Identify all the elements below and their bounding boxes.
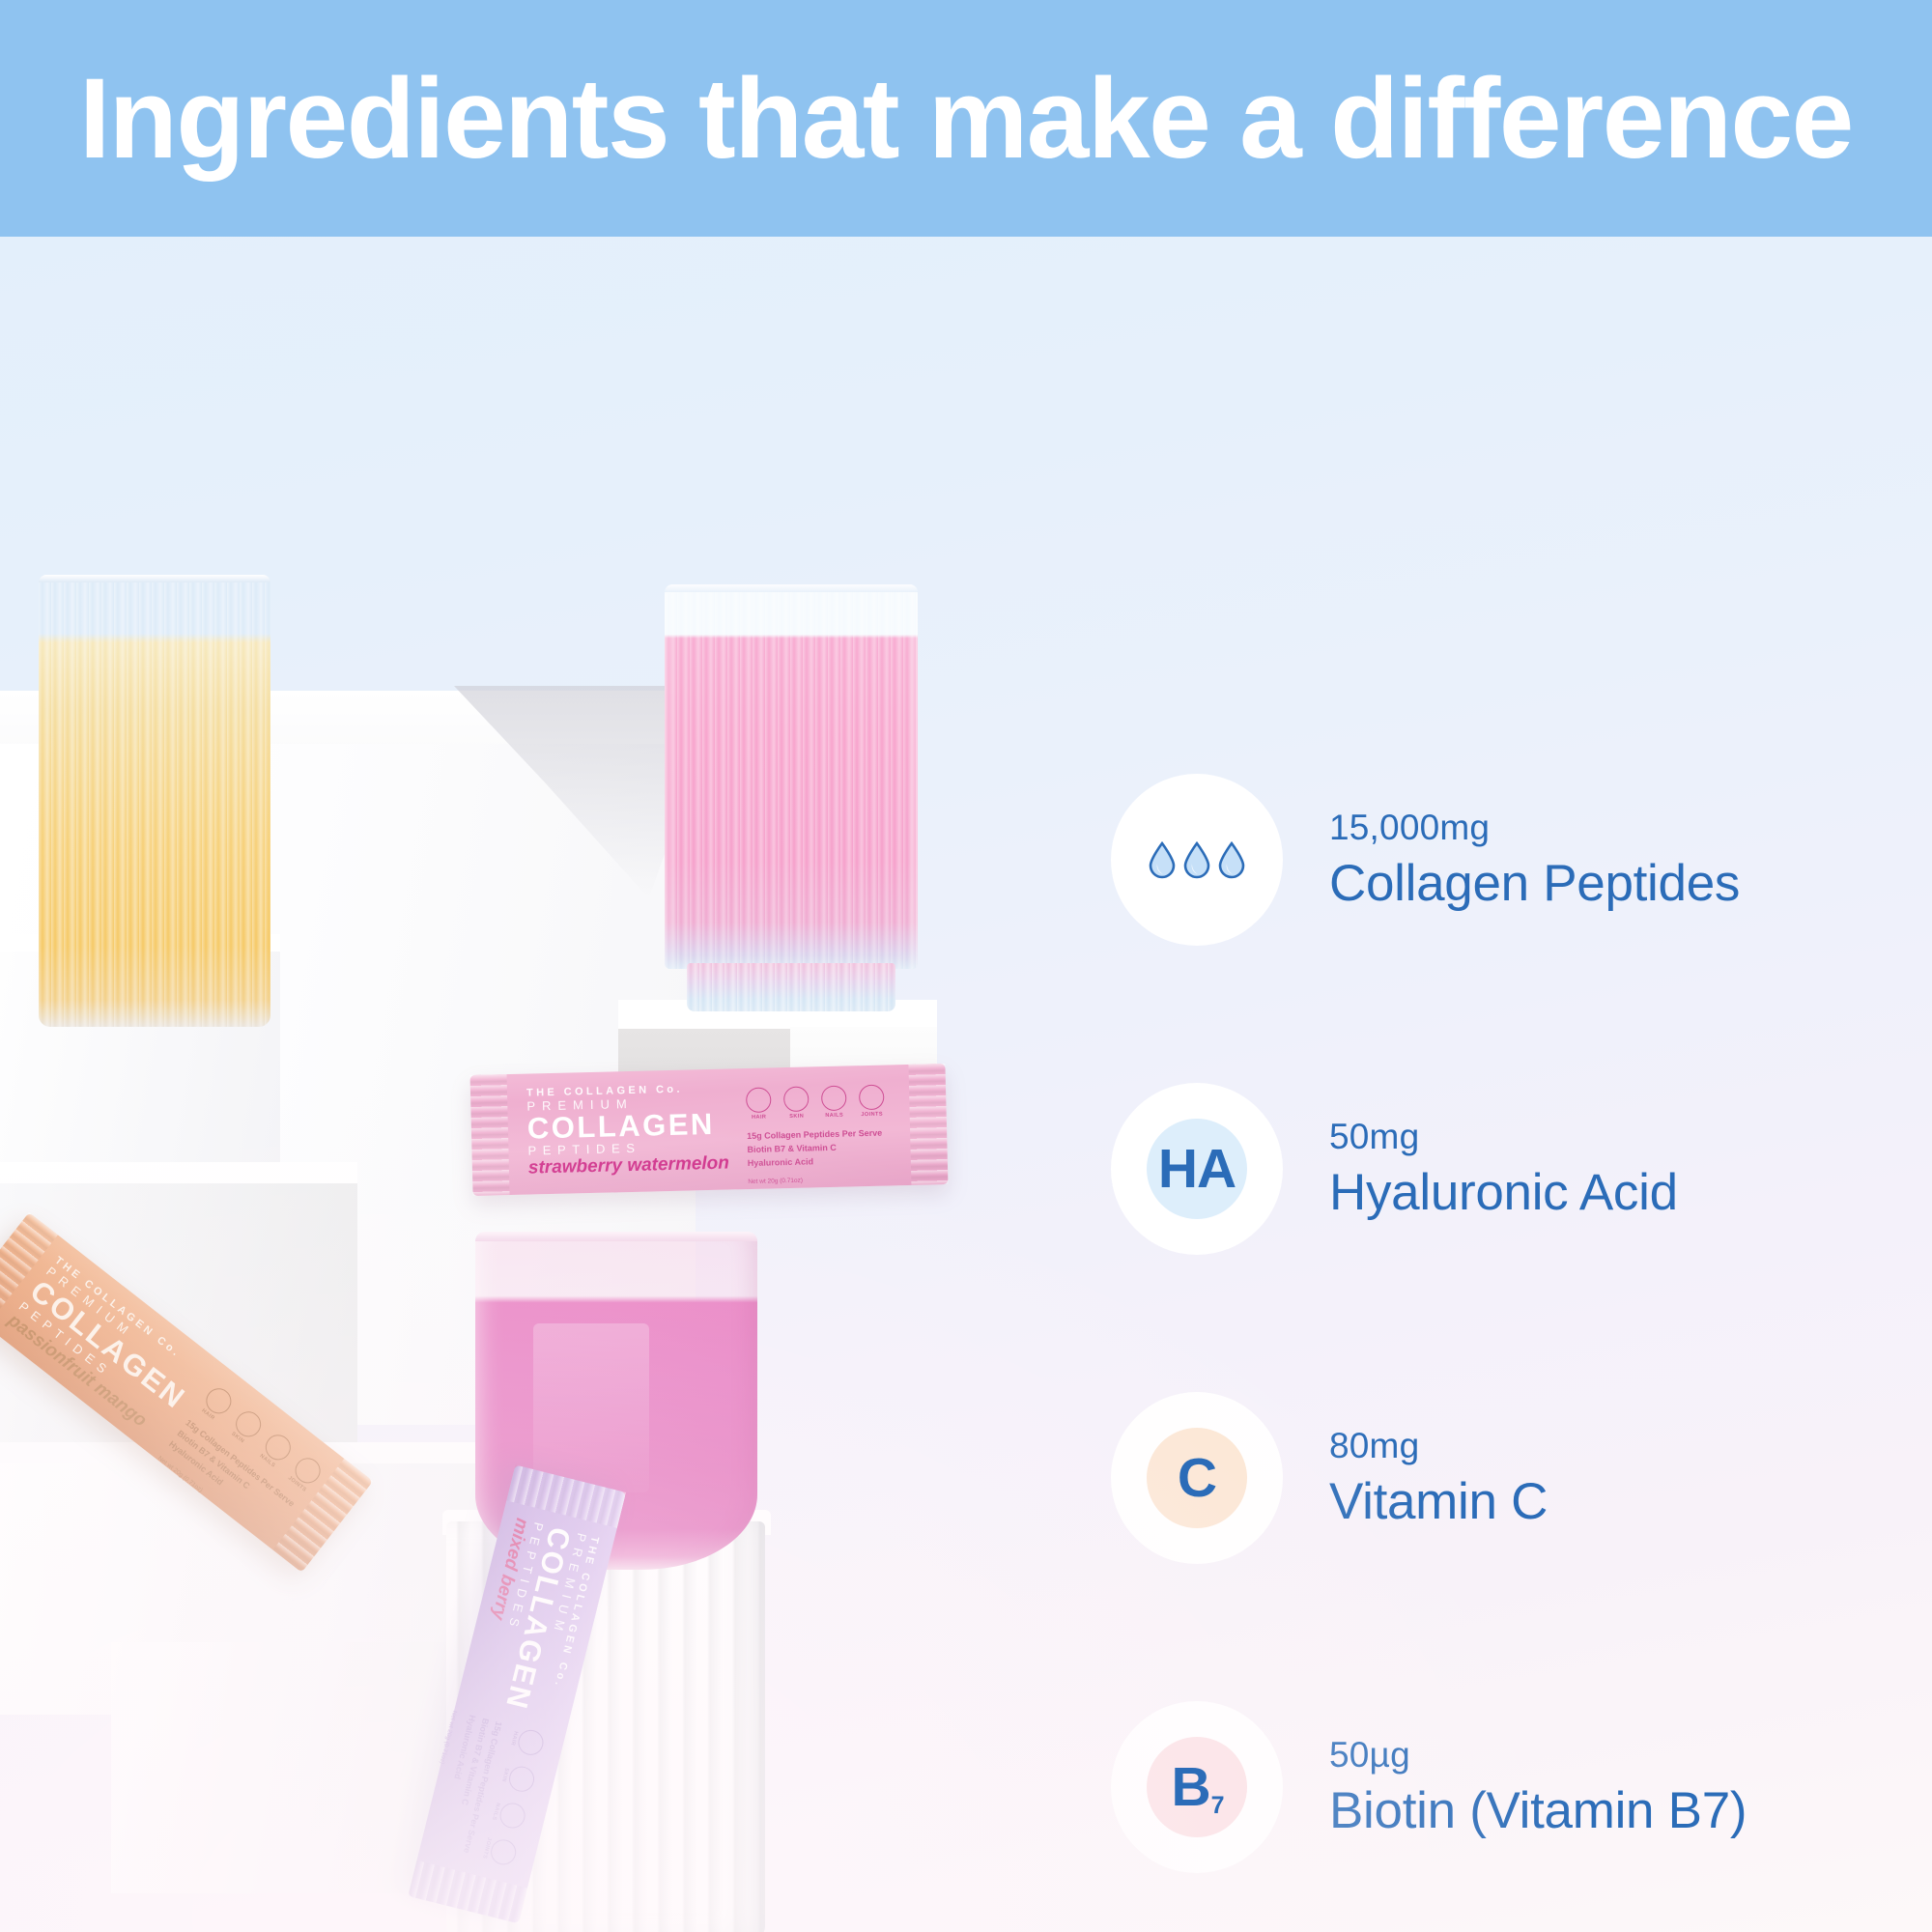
skin-icon xyxy=(783,1086,810,1112)
sachet-flavour: strawberry watermelon xyxy=(528,1152,731,1179)
joints-icon xyxy=(859,1085,885,1111)
benefit-skin: SKIN xyxy=(226,1406,266,1448)
ingredient-list: 15,000mg Collagen Peptides HA 50mg Hyalu… xyxy=(1111,763,1922,1884)
benefit-nails: NAILS xyxy=(490,1799,527,1831)
benefit-joints: JOINTS xyxy=(285,1453,325,1494)
sachet-serrated-edge-left xyxy=(470,1074,510,1196)
biotin-b7-letter-icon: B7 xyxy=(1171,1760,1222,1815)
ingredient-amount: 15,000mg xyxy=(1329,806,1740,850)
benefit-joints: JOINTS xyxy=(859,1085,885,1119)
ingredient-name: Hyaluronic Acid xyxy=(1329,1164,1678,1223)
nails-icon xyxy=(497,1801,528,1832)
ingredient-amount: 50µg xyxy=(1329,1733,1747,1777)
benefit-hair: HAIR xyxy=(746,1087,772,1121)
vitamin-c-letter-icon: C xyxy=(1178,1451,1216,1506)
biotin-subscript: 7 xyxy=(1211,1792,1224,1819)
ingredient-amount: 50mg xyxy=(1329,1115,1678,1159)
benefit-nails: NAILS xyxy=(821,1086,847,1120)
benefit-hair: HAIR xyxy=(508,1725,546,1757)
ingredient-badge: B7 xyxy=(1111,1701,1283,1873)
ingredient-badge: HA xyxy=(1111,1083,1283,1255)
ha-letters-icon: HA xyxy=(1158,1142,1236,1197)
ingredient-amount: 80mg xyxy=(1329,1424,1548,1468)
pedestal-step-d xyxy=(111,1642,459,1893)
product-photo: THE COLLAGEN Co. PREMIUM COLLAGEN PEPTID… xyxy=(0,237,1932,1932)
header-banner: Ingredients that make a difference xyxy=(0,0,1932,237)
sachet-benefit-icons: HAIR SKIN NAILS JOINTS xyxy=(746,1084,921,1121)
ingredient-item-vitamin-c: C 80mg Vitamin C xyxy=(1111,1381,1922,1575)
ingredient-badge: C xyxy=(1111,1392,1283,1564)
benefit-joints: JOINTS xyxy=(481,1835,519,1867)
tall-ribbed-glass xyxy=(665,584,918,1009)
hair-icon xyxy=(516,1727,547,1758)
marketing-image: Ingredients that make a difference xyxy=(0,0,1932,1932)
sachet-net-weight: Net wt 20g (0.71oz) xyxy=(748,1174,922,1184)
nails-icon xyxy=(821,1086,847,1112)
ingredient-badge xyxy=(1111,774,1283,946)
sachet-collagen: COLLAGEN xyxy=(527,1108,731,1143)
water-droplets-icon xyxy=(1148,840,1246,879)
joints-icon xyxy=(488,1837,519,1868)
ingredient-name: Vitamin C xyxy=(1329,1473,1548,1532)
ribbed-tumbler-glass xyxy=(39,575,270,1038)
benefit-nails: NAILS xyxy=(256,1430,296,1471)
ingredient-item-collagen-peptides: 15,000mg Collagen Peptides xyxy=(1111,763,1922,956)
ingredient-name: Biotin (Vitamin B7) xyxy=(1329,1782,1747,1841)
skin-icon xyxy=(506,1764,537,1795)
hair-icon xyxy=(746,1087,772,1113)
ingredient-item-biotin: B7 50µg Biotin (Vitamin B7) xyxy=(1111,1690,1922,1884)
benefit-skin: SKIN xyxy=(498,1762,536,1794)
pink-sachet: THE COLLAGEN Co. PREMIUM COLLAGEN PEPTID… xyxy=(470,1064,949,1196)
biotin-letter: B xyxy=(1171,1756,1209,1818)
ingredient-item-hyaluronic-acid: HA 50mg Hyaluronic Acid xyxy=(1111,1072,1922,1265)
page-title: Ingredients that make a difference xyxy=(79,62,1853,176)
ingredient-name: Collagen Peptides xyxy=(1329,855,1740,914)
benefit-hair: HAIR xyxy=(196,1383,236,1425)
benefit-skin: SKIN xyxy=(783,1086,810,1120)
